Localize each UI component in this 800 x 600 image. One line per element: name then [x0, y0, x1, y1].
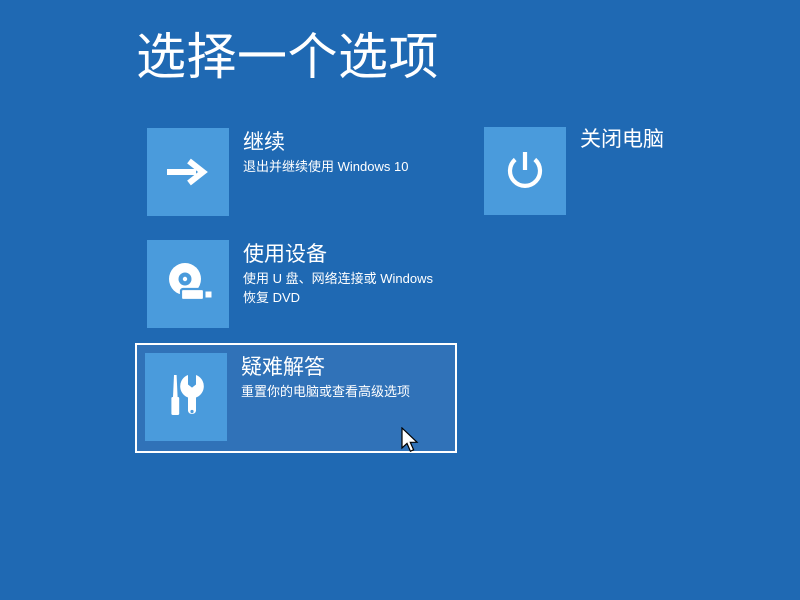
option-troubleshoot-title: 疑难解答: [241, 355, 410, 382]
page-title: 选择一个选项: [136, 26, 439, 89]
continue-tile: [147, 128, 229, 216]
option-turn-off-pc-title: 关闭电脑: [580, 127, 664, 154]
disc-usb-icon: [161, 259, 215, 309]
turn-off-pc-text-block: 关闭电脑: [566, 127, 664, 154]
screwdriver-wrench-icon: [161, 371, 211, 423]
option-turn-off-pc[interactable]: 关闭电脑: [484, 127, 664, 215]
arrow-right-icon: [163, 152, 213, 192]
power-icon: [502, 148, 548, 194]
option-continue-title: 继续: [243, 130, 408, 157]
option-use-device-title: 使用设备: [243, 242, 439, 269]
troubleshoot-text-block: 疑难解答 重置你的电脑或查看高级选项: [227, 345, 410, 402]
option-troubleshoot[interactable]: 疑难解答 重置你的电脑或查看高级选项: [135, 343, 457, 453]
option-troubleshoot-subtitle: 重置你的电脑或查看高级选项: [241, 383, 410, 402]
use-device-tile: [147, 240, 229, 328]
option-continue[interactable]: 继续 退出并继续使用 Windows 10: [145, 126, 445, 218]
option-use-device[interactable]: 使用设备 使用 U 盘、网络连接或 Windows 恢复 DVD: [145, 238, 445, 330]
option-use-device-subtitle: 使用 U 盘、网络连接或 Windows 恢复 DVD: [243, 270, 439, 308]
troubleshoot-tile: [145, 353, 227, 441]
option-continue-subtitle: 退出并继续使用 Windows 10: [243, 158, 408, 177]
turn-off-pc-tile: [484, 127, 566, 215]
use-device-text-block: 使用设备 使用 U 盘、网络连接或 Windows 恢复 DVD: [229, 240, 439, 308]
continue-text-block: 继续 退出并继续使用 Windows 10: [229, 128, 408, 177]
